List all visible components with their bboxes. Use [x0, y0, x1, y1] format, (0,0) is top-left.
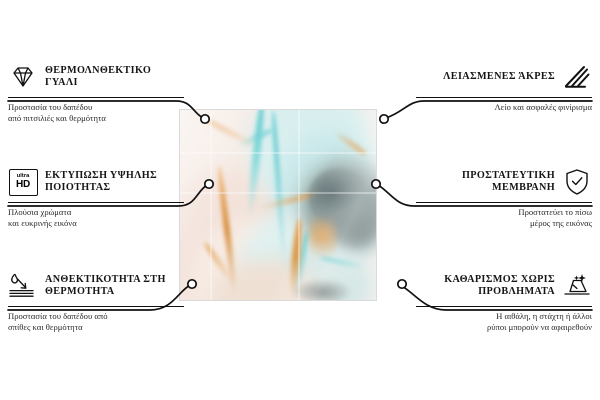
- feature-title: ΛΕΙΑΣΜΕΝΕΣ ΆΚΡΕΣ: [416, 71, 555, 83]
- divider: [8, 97, 184, 98]
- feature-protective-membrane: ΠΡΟΣΤΑΤΕΥΤΙΚΗ ΜΕΜΒΡΑΝΗ Προστατεύει το πί…: [416, 165, 592, 228]
- feature-body: Η αιθάλη, η στάχτη ή άλλοιρύποι μπορούν …: [416, 311, 592, 332]
- feature-body: Λείο και ασφαλές φινίρισμα: [416, 102, 592, 113]
- ultra-hd-icon: ultraHD: [8, 167, 38, 197]
- feature-easy-cleaning: ΚΑΘΑΡΙΣΜΟΣ ΧΩΡΙΣ ΠΡΟΒΛΗΜΑΤΑ Η αιθάλη, η …: [416, 269, 592, 332]
- feature-title: ΑΝΘΕΚΤΙΚΟΤΗΤΑ ΣΤΗ ΘΕΡΜΟΤΗΤΑ: [45, 274, 184, 299]
- divider: [8, 202, 184, 203]
- hotspot-marker: [380, 115, 388, 123]
- feature-polished-edges: ΛΕΙΑΣΜΕΝΕΣ ΆΚΡΕΣ Λείο και ασφαλές φινίρι…: [416, 60, 592, 113]
- feature-heat-resistant-glass: ΘΕΡΜΟΛΝΘΕΚΤΙΚΟ ΓΥΑΛΙ Προστασία του δαπέδ…: [8, 60, 184, 123]
- polished-edges-icon: [562, 62, 592, 92]
- feature-heat-durability: ΑΝΘΕΚΤΙΚΟΤΗΤΑ ΣΤΗ ΘΕΡΜΟΤΗΤΑ Προστασία το…: [8, 269, 184, 332]
- hotspot-marker: [398, 280, 406, 288]
- heat-resistance-icon: [8, 271, 38, 301]
- divider: [416, 202, 592, 203]
- easy-clean-icon: [562, 271, 592, 301]
- feature-body: Προστασία του δαπέδου απόσπίθες και θερμ…: [8, 311, 184, 332]
- feature-high-quality-print: ultraHD ΕΚΤΥΠΩΣΗ ΥΨΗΛΗΣ ΠΟΙΟΤΗΤΑΣ Πλούσι…: [8, 165, 184, 228]
- feature-title: ΚΑΘΑΡΙΣΜΟΣ ΧΩΡΙΣ ΠΡΟΒΛΗΜΑΤΑ: [416, 274, 555, 299]
- feature-title: ΠΡΟΣΤΑΤΕΥΤΙΚΗ ΜΕΜΒΡΑΝΗ: [416, 170, 555, 195]
- divider: [416, 306, 592, 307]
- feature-body: Πλούσια χρώματακαι ευκρινής εικόνα: [8, 207, 184, 228]
- feature-body: Προστατεύει το πίσωμέρος της εικόνας: [416, 207, 592, 228]
- divider: [416, 97, 592, 98]
- shield-check-icon: [562, 167, 592, 197]
- product-image: [180, 110, 376, 300]
- feature-title: ΕΚΤΥΠΩΣΗ ΥΨΗΛΗΣ ΠΟΙΟΤΗΤΑΣ: [45, 170, 184, 195]
- feature-title: ΘΕΡΜΟΛΝΘΕΚΤΙΚΟ ΓΥΑΛΙ: [45, 65, 184, 90]
- marble-glass-surface: [180, 110, 376, 300]
- divider: [8, 306, 184, 307]
- infographic-canvas: ΘΕΡΜΟΛΝΘΕΚΤΙΚΟ ΓΥΑΛΙ Προστασία του δαπέδ…: [0, 0, 600, 400]
- diamond-icon: [8, 62, 38, 92]
- feature-body: Προστασία του δαπέδουαπό πιτσιλιές και θ…: [8, 102, 184, 123]
